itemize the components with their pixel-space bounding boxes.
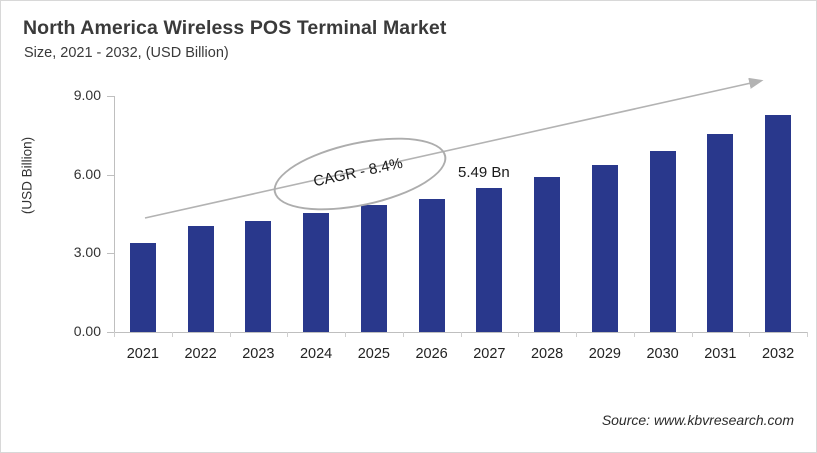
chart-card: North America Wireless POS Terminal Mark… [0, 0, 817, 453]
bar-2025[interactable] [361, 205, 387, 332]
x-tick-mark [807, 332, 808, 337]
x-tick-label-2029: 2029 [576, 346, 634, 362]
y-tick-label: 0.00 [53, 323, 101, 339]
x-tick-mark [287, 332, 288, 337]
bar-2026[interactable] [419, 199, 445, 332]
x-tick-mark [749, 332, 750, 337]
x-tick-mark [576, 332, 577, 337]
y-tick-mark [107, 253, 114, 254]
y-tick-label: 9.00 [53, 87, 101, 103]
x-tick-mark [692, 332, 693, 337]
bar-2030[interactable] [650, 151, 676, 332]
x-tick-mark [230, 332, 231, 337]
bar-slot [461, 96, 519, 332]
x-tick-label-2031: 2031 [692, 346, 750, 362]
y-tick-label: 3.00 [53, 244, 101, 260]
bar-2031[interactable] [707, 134, 733, 333]
y-tick-mark [107, 332, 114, 333]
bar-2024[interactable] [303, 213, 329, 332]
x-tick-mark [114, 332, 115, 337]
bar-slot [518, 96, 576, 332]
x-tick-mark [461, 332, 462, 337]
bar-slot [345, 96, 403, 332]
y-tick-label: 6.00 [53, 166, 101, 182]
x-tick-mark [518, 332, 519, 337]
y-axis-tick-labels: 0.003.006.009.00 [49, 1, 101, 453]
x-tick-label-2032: 2032 [749, 346, 807, 362]
x-tick-label-2021: 2021 [114, 346, 172, 362]
x-tick-label-2022: 2022 [172, 346, 230, 362]
bar-slot [576, 96, 634, 332]
bar-2027[interactable] [476, 188, 502, 332]
plot-area [114, 96, 807, 332]
x-tick-label-2023: 2023 [230, 346, 288, 362]
bar-slot [749, 96, 807, 332]
bar-2023[interactable] [245, 221, 271, 332]
x-tick-mark [634, 332, 635, 337]
bar-2028[interactable] [534, 177, 560, 332]
x-tick-mark [345, 332, 346, 337]
y-tick-mark [107, 175, 114, 176]
x-tick-label-2030: 2030 [634, 346, 692, 362]
x-tick-label-2026: 2026 [403, 346, 461, 362]
bar-2032[interactable] [765, 115, 791, 332]
x-tick-label-2027: 2027 [461, 346, 519, 362]
bar-2021[interactable] [130, 243, 156, 332]
x-tick-label-2024: 2024 [287, 346, 345, 362]
source-note: Source: www.kbvresearch.com [602, 412, 794, 428]
bar-slot [692, 96, 750, 332]
bar-slot [172, 96, 230, 332]
x-tick-label-2028: 2028 [518, 346, 576, 362]
bar-2022[interactable] [188, 226, 214, 332]
x-tick-mark [403, 332, 404, 337]
data-label-2027: 5.49 Bn [458, 164, 510, 181]
y-axis-title: (USD Billion) [20, 106, 35, 246]
y-tick-mark [107, 96, 114, 97]
bar-2029[interactable] [592, 165, 618, 332]
bar-slot [634, 96, 692, 332]
x-tick-mark [172, 332, 173, 337]
bar-slot [114, 96, 172, 332]
x-tick-label-2025: 2025 [345, 346, 403, 362]
